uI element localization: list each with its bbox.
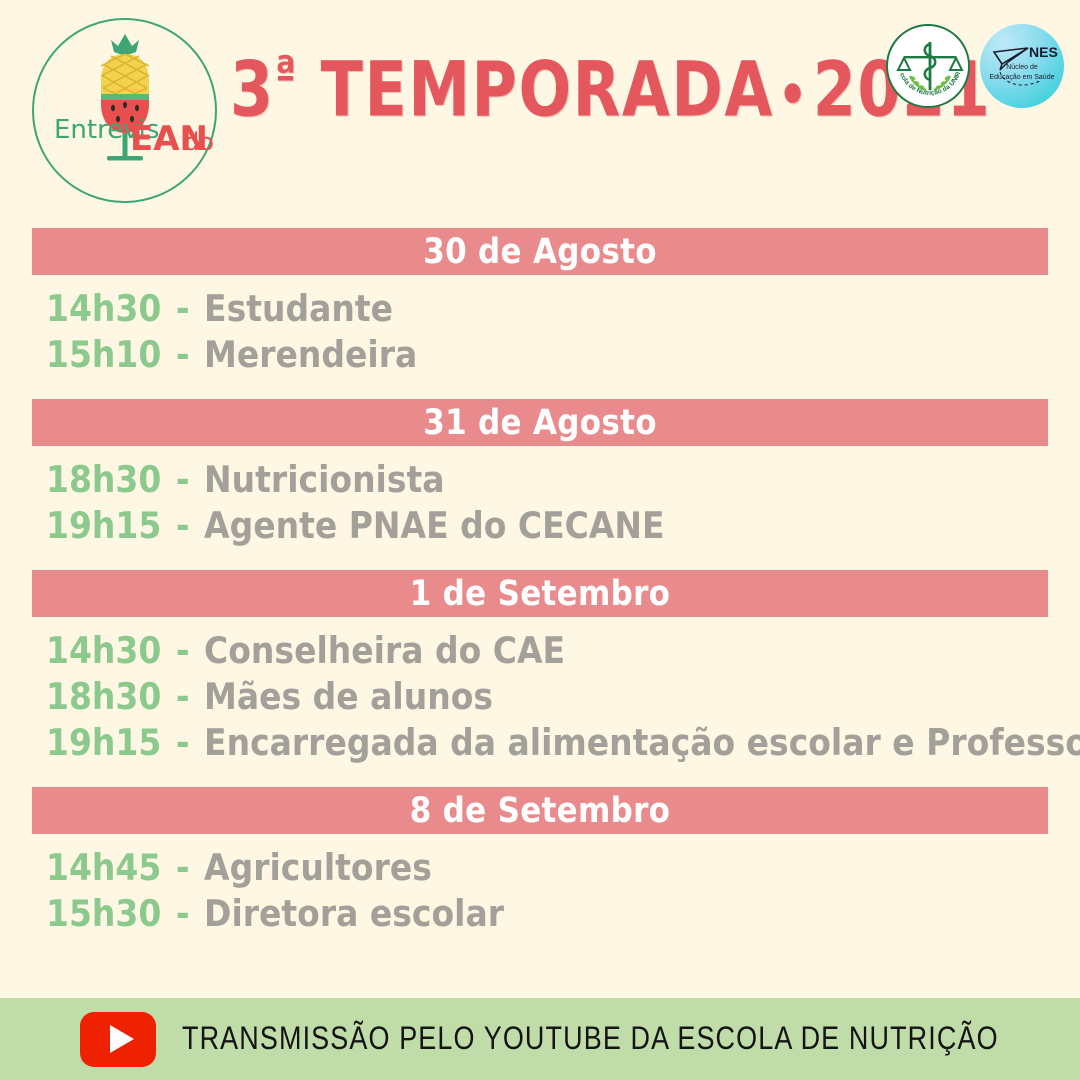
- session-dash: -: [173, 629, 193, 672]
- logo-nes: NES Núcleo de Educação em Saúde: [980, 24, 1064, 108]
- youtube-icon[interactable]: [80, 1012, 156, 1067]
- date-band: 1 de Setembro: [32, 570, 1048, 617]
- season-number: 3: [230, 45, 275, 134]
- session-row: 15h10 - Merendeira: [46, 330, 1048, 381]
- session-row: 18h30 - Mães de alunos: [46, 672, 1048, 723]
- session-dash: -: [173, 287, 193, 330]
- session-dash: -: [173, 675, 193, 718]
- partner-logos: Escola de Nutrição da UNIRIO NES Núcleo …: [886, 24, 1064, 108]
- session-row: 14h30 - Estudante: [46, 284, 1048, 335]
- logo-escola-de-nutricao-unirio: Escola de Nutrição da UNIRIO: [886, 24, 970, 108]
- session-dash: -: [173, 504, 193, 547]
- brand-logo-entreviseando: Entrevis EAN do: [32, 18, 217, 203]
- schedule-list: 30 de Agosto14h30 - Estudante15h10 - Mer…: [32, 228, 1048, 950]
- session-time: 19h15: [46, 721, 161, 764]
- broadcast-footer[interactable]: TRANSMISSÃO PELO YOUTUBE DA ESCOLA DE NU…: [0, 998, 1080, 1080]
- session-list: 14h45 - Agricultores15h30 - Diretora esc…: [32, 834, 1048, 950]
- session-row: 14h30 - Conselheira do CAE: [46, 626, 1048, 677]
- date-band: 8 de Setembro: [32, 787, 1048, 834]
- session-row: 14h45 - Agricultores: [46, 843, 1048, 894]
- date-band: 30 de Agosto: [32, 228, 1048, 275]
- session-dash: -: [173, 458, 193, 501]
- season-ordinal: ª: [275, 46, 298, 100]
- session-title: Encarregada da alimentação escolar e Pro…: [204, 721, 1080, 764]
- broadcast-footer-text: TRANSMISSÃO PELO YOUTUBE DA ESCOLA DE NU…: [182, 1021, 999, 1058]
- session-list: 14h30 - Estudante15h10 - Merendeira: [32, 275, 1048, 391]
- poster-canvas: Entrevis EAN do 3ª TEMPORADA•2021: [0, 0, 1080, 1080]
- section-gap: [32, 562, 1048, 570]
- escola-nutricao-seal-icon: Escola de Nutrição da UNIRIO: [888, 26, 970, 108]
- session-title: Nutricionista: [204, 458, 445, 501]
- session-dash: -: [173, 721, 193, 764]
- date-band-label: 31 de Agosto: [423, 402, 657, 442]
- date-band-label: 30 de Agosto: [423, 231, 657, 271]
- session-time: 15h10: [46, 333, 161, 376]
- title-separator-dot: •: [774, 62, 813, 128]
- session-time: 18h30: [46, 458, 161, 501]
- session-row: 19h15 - Encarregada da alimentação escol…: [46, 718, 1048, 769]
- session-row: 18h30 - Nutricionista: [46, 455, 1048, 506]
- session-list: 18h30 - Nutricionista19h15 - Agente PNAE…: [32, 446, 1048, 562]
- date-band-label: 1 de Setembro: [410, 573, 671, 613]
- session-title: Diretora escolar: [204, 892, 504, 935]
- session-list: 14h30 - Conselheira do CAE18h30 - Mães d…: [32, 617, 1048, 779]
- session-time: 15h30: [46, 892, 161, 935]
- session-row: 19h15 - Agente PNAE do CECANE: [46, 501, 1048, 552]
- session-dash: -: [173, 892, 193, 935]
- section-gap: [32, 391, 1048, 399]
- date-band: 31 de Agosto: [32, 399, 1048, 446]
- session-time: 18h30: [46, 675, 161, 718]
- season-title: 3ª TEMPORADA•2021: [230, 52, 870, 128]
- session-dash: -: [173, 846, 193, 889]
- session-time: 14h30: [46, 629, 161, 672]
- session-time: 14h45: [46, 846, 161, 889]
- session-time: 19h15: [46, 504, 161, 547]
- poster-header: Entrevis EAN do 3ª TEMPORADA•2021: [0, 0, 1080, 212]
- nes-line1: Núcleo de: [1006, 64, 1038, 71]
- date-band-label: 8 de Setembro: [410, 790, 671, 830]
- nes-line2: Educação em Saúde: [990, 74, 1055, 81]
- nes-paper-airplane-icon: NES Núcleo de Educação em Saúde: [980, 24, 1064, 108]
- logo-wordmark: Entrevis EAN do: [32, 18, 217, 203]
- season-word: TEMPORADA: [321, 45, 774, 134]
- session-time: 14h30: [46, 287, 161, 330]
- session-dash: -: [173, 333, 193, 376]
- session-title: Agente PNAE do CECANE: [204, 504, 665, 547]
- session-row: 15h30 - Diretora escolar: [46, 889, 1048, 940]
- session-title: Mães de alunos: [204, 675, 493, 718]
- session-title: Estudante: [204, 287, 393, 330]
- session-title: Conselheira do CAE: [204, 629, 565, 672]
- session-title: Agricultores: [204, 846, 432, 889]
- section-gap: [32, 779, 1048, 787]
- nes-acronym: NES: [1029, 44, 1058, 60]
- logo-text-do: do: [184, 128, 214, 156]
- session-title: Merendeira: [204, 333, 417, 376]
